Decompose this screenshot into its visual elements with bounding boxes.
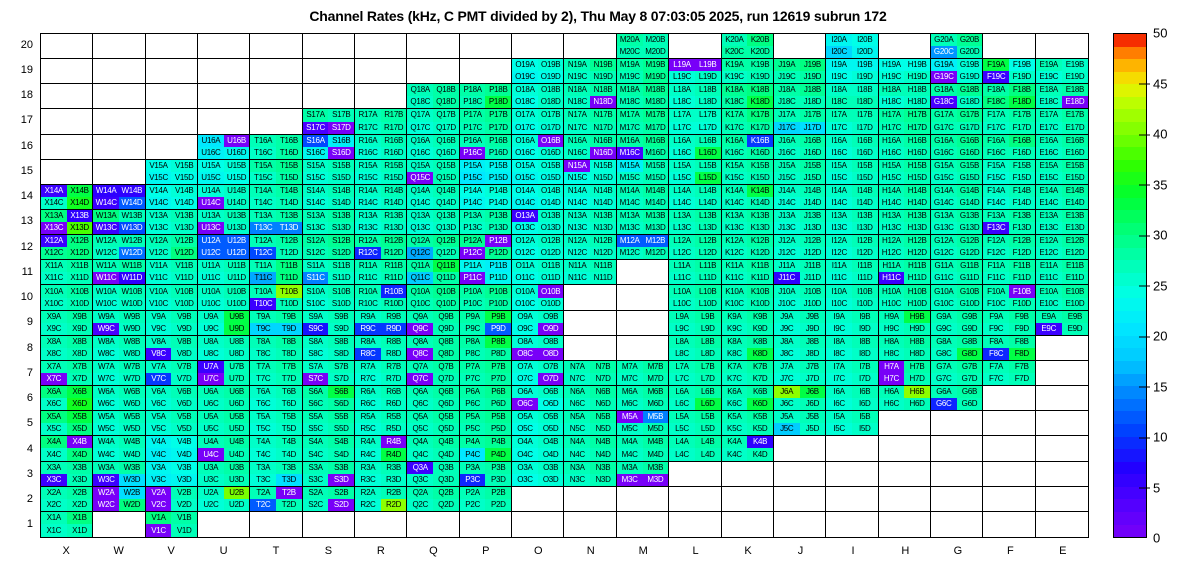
channel-quadrant: P6A <box>460 386 486 398</box>
channel-quadrant: J9C <box>774 323 800 335</box>
channel-quadrant: K7C <box>722 373 748 385</box>
heatmap-cell: K11AK11BK11CK11D <box>722 260 774 285</box>
channel-quadrant <box>171 96 197 108</box>
channel-quadrant: K11A <box>722 260 748 272</box>
channel-quadrant <box>617 336 643 348</box>
y-axis-tick: 10 <box>0 291 33 303</box>
channel-quadrant: F19A <box>983 59 1009 71</box>
channel-quadrant: J13D <box>800 222 826 234</box>
channel-quadrant <box>1062 448 1088 460</box>
channel-quadrant: Q6C <box>407 398 433 410</box>
heatmap-grid: M20AM20BM20CM20DK20AK20BK20CK20DI20AI20B… <box>41 34 1088 537</box>
channel-quadrant: N15D <box>590 172 616 184</box>
channel-quadrant: X12D <box>67 247 93 259</box>
channel-quadrant: G7D <box>957 373 983 385</box>
channel-quadrant: R15A <box>355 160 381 172</box>
channel-quadrant: L12B <box>695 235 721 247</box>
channel-quadrant: P18C <box>460 96 486 108</box>
channel-quadrant: W13D <box>119 222 145 234</box>
channel-quadrant <box>276 46 302 58</box>
channel-quadrant: K4D <box>747 448 773 460</box>
channel-quadrant: X11D <box>67 272 93 284</box>
channel-quadrant: T6D <box>276 398 302 410</box>
heatmap-cell: T5AT5BT5CT5D <box>250 411 302 436</box>
channel-quadrant <box>1062 423 1088 435</box>
channel-quadrant: I19A <box>826 59 852 71</box>
channel-quadrant <box>957 512 983 525</box>
heatmap-cell: S8AS8BS8CS8D <box>303 336 355 361</box>
channel-quadrant: N17C <box>564 122 590 134</box>
channel-quadrant: F13D <box>1009 222 1035 234</box>
channel-quadrant: K16A <box>722 135 748 147</box>
channel-quadrant <box>983 462 1009 474</box>
channel-quadrant: G11A <box>931 260 957 272</box>
channel-quadrant <box>276 34 302 46</box>
channel-quadrant: I12A <box>826 235 852 247</box>
channel-quadrant: M6A <box>617 386 643 398</box>
channel-quadrant <box>119 34 145 46</box>
channel-quadrant: R3C <box>355 474 381 486</box>
heatmap-cell: W14AW14BW14CW14D <box>93 185 145 210</box>
channel-quadrant <box>119 172 145 184</box>
heatmap-cell: E10AE10BE10CE10D <box>1036 285 1088 310</box>
channel-quadrant <box>669 487 695 499</box>
channel-quadrant <box>617 298 643 310</box>
channel-quadrant: V3B <box>171 462 197 474</box>
heatmap-cell: F10AF10BF10CF10D <box>983 285 1035 310</box>
channel-quadrant: U14B <box>224 185 250 197</box>
channel-quadrant <box>1009 398 1035 410</box>
channel-quadrant: W4D <box>119 448 145 460</box>
heatmap-cell: O12AO12BO12CO12D <box>512 235 564 260</box>
channel-quadrant: X4B <box>67 436 93 448</box>
channel-quadrant: Q13B <box>433 210 459 222</box>
heatmap-cell: H16AH16BH16CH16D <box>879 135 931 160</box>
channel-quadrant <box>276 71 302 83</box>
heatmap-cell: L17AL17BL17CL17D <box>669 109 721 134</box>
channel-quadrant: K17B <box>747 109 773 121</box>
heatmap-cell: R6AR6BR6CR6D <box>355 386 407 411</box>
channel-quadrant: Q9A <box>407 311 433 323</box>
heatmap-cell <box>617 311 669 336</box>
channel-quadrant: V1D <box>171 524 197 537</box>
heatmap-cell: F17AF17BF17CF17D <box>983 109 1035 134</box>
channel-quadrant <box>407 46 433 58</box>
heatmap-cell: U9AU9BU9CU9D <box>198 311 250 336</box>
heatmap-cell: H14AH14BH14CH14D <box>879 185 931 210</box>
channel-quadrant: K13A <box>722 210 748 222</box>
channel-quadrant <box>904 436 930 448</box>
channel-quadrant: I8A <box>826 336 852 348</box>
channel-quadrant <box>590 487 616 499</box>
channel-quadrant: W6C <box>93 398 119 410</box>
channel-quadrant: T6A <box>250 386 276 398</box>
heatmap-cell <box>355 84 407 109</box>
channel-quadrant: G10A <box>931 285 957 297</box>
heatmap-cell <box>931 512 983 537</box>
heatmap-cell: N16AN16BN16CN16D <box>564 135 616 160</box>
channel-quadrant: G13A <box>931 210 957 222</box>
channel-quadrant: U13A <box>198 210 224 222</box>
channel-quadrant: V1B <box>171 512 197 525</box>
channel-quadrant: J11C <box>774 272 800 284</box>
heatmap-cell: I12AI12BI12CI12D <box>826 235 878 260</box>
channel-quadrant: P3A <box>460 462 486 474</box>
channel-quadrant <box>538 499 564 511</box>
channel-quadrant: G18A <box>931 84 957 96</box>
channel-quadrant: X12C <box>41 247 67 259</box>
channel-quadrant <box>146 109 172 121</box>
channel-quadrant: H6C <box>879 398 905 410</box>
y-axis-tick: 2 <box>0 493 33 505</box>
colorbar-segment <box>1114 172 1146 185</box>
channel-quadrant: N6D <box>590 398 616 410</box>
channel-quadrant: K14C <box>722 197 748 209</box>
channel-quadrant: E17B <box>1062 109 1088 121</box>
channel-quadrant: R12A <box>355 235 381 247</box>
channel-quadrant: K9D <box>747 323 773 335</box>
channel-quadrant: X7B <box>67 361 93 373</box>
channel-quadrant: H11A <box>879 260 905 272</box>
channel-quadrant <box>381 71 407 83</box>
heatmap-cell: G15AG15BG15CG15D <box>931 160 983 185</box>
channel-quadrant <box>904 423 930 435</box>
channel-quadrant: X5C <box>41 423 67 435</box>
channel-quadrant <box>276 122 302 134</box>
channel-quadrant <box>1009 462 1035 474</box>
channel-quadrant: S6C <box>303 398 329 410</box>
heatmap-cell: V7AV7BV7CV7D <box>146 361 198 386</box>
channel-quadrant <box>590 348 616 360</box>
channel-quadrant: G9B <box>957 311 983 323</box>
channel-quadrant: T13B <box>276 210 302 222</box>
channel-quadrant <box>250 71 276 83</box>
channel-quadrant: T14A <box>250 185 276 197</box>
heatmap-cell: L19AL19BL19CL19D <box>669 59 721 84</box>
channel-quadrant: O6B <box>538 386 564 398</box>
channel-quadrant: T13D <box>276 222 302 234</box>
channel-quadrant: X14C <box>41 197 67 209</box>
channel-quadrant: S4B <box>328 436 354 448</box>
x-axis-tick: Q <box>407 545 459 557</box>
channel-quadrant: J7D <box>800 373 826 385</box>
channel-quadrant: X14B <box>67 185 93 197</box>
heatmap-cell: R7AR7BR7CR7D <box>355 361 407 386</box>
channel-quadrant: Q9C <box>407 323 433 335</box>
y-axis-tick: 5 <box>0 417 33 429</box>
channel-quadrant: S14D <box>328 197 354 209</box>
heatmap-cell <box>146 34 198 59</box>
channel-quadrant <box>852 448 878 460</box>
channel-quadrant <box>643 487 669 499</box>
heatmap-cell: M15AM15BM15CM15D <box>617 160 669 185</box>
heatmap-cell <box>983 411 1035 436</box>
channel-quadrant: G6D <box>957 398 983 410</box>
channel-quadrant: M4D <box>643 448 669 460</box>
channel-quadrant <box>250 524 276 537</box>
channel-quadrant: F17A <box>983 109 1009 121</box>
channel-quadrant: E11D <box>1062 272 1088 284</box>
channel-quadrant: H6A <box>879 386 905 398</box>
heatmap-cell: P12AP12BP12CP12D <box>460 235 512 260</box>
channel-quadrant: N6A <box>564 386 590 398</box>
heatmap-cell <box>564 34 616 59</box>
channel-quadrant <box>460 524 486 537</box>
heatmap-cell: K5AK5BK5CK5D <box>722 411 774 436</box>
channel-quadrant: E16A <box>1036 135 1062 147</box>
channel-quadrant: Q17A <box>407 109 433 121</box>
colorbar-segment <box>1114 147 1146 160</box>
channel-quadrant: I17B <box>852 109 878 121</box>
heatmap-cell: I20AI20BI20CI20D <box>826 34 878 59</box>
heatmap-cell: X8AX8BX8CX8D <box>41 336 93 361</box>
channel-quadrant <box>538 487 564 499</box>
channel-quadrant: W8B <box>119 336 145 348</box>
channel-quadrant <box>695 512 721 525</box>
channel-quadrant: P17C <box>460 122 486 134</box>
channel-quadrant: X6C <box>41 398 67 410</box>
channel-quadrant: U9B <box>224 311 250 323</box>
channel-quadrant: I17C <box>826 122 852 134</box>
channel-quadrant: N12C <box>564 247 590 259</box>
channel-quadrant: X10D <box>67 298 93 310</box>
channel-quadrant: U2C <box>198 499 224 511</box>
heatmap-cell: G20AG20BG20CG20D <box>931 34 983 59</box>
channel-quadrant: X3B <box>67 462 93 474</box>
channel-quadrant <box>774 46 800 58</box>
channel-quadrant: V13D <box>171 222 197 234</box>
heatmap-cell: F13AF13BF13CF13D <box>983 210 1035 235</box>
channel-quadrant: E14A <box>1036 185 1062 197</box>
heatmap-cell: L13AL13BL13CL13D <box>669 210 721 235</box>
heatmap-cell: S5AS5BS5CS5D <box>303 411 355 436</box>
channel-quadrant <box>957 423 983 435</box>
channel-quadrant: M5D <box>643 423 669 435</box>
channel-quadrant: P6C <box>460 398 486 410</box>
channel-quadrant: E17A <box>1036 109 1062 121</box>
channel-quadrant: H12C <box>879 247 905 259</box>
channel-quadrant: E17C <box>1036 122 1062 134</box>
heatmap-cell: O14AO14BO14CO14D <box>512 185 564 210</box>
heatmap-cell <box>774 34 826 59</box>
channel-quadrant: S2D <box>328 499 354 511</box>
colorbar-tick-mark <box>1139 488 1150 489</box>
channel-quadrant: F15B <box>1009 160 1035 172</box>
channel-quadrant <box>93 84 119 96</box>
colorbar-segment <box>1114 84 1146 97</box>
channel-quadrant: I10A <box>826 285 852 297</box>
channel-quadrant: I17D <box>852 122 878 134</box>
heatmap-cell <box>198 84 250 109</box>
channel-quadrant: H8A <box>879 336 905 348</box>
channel-quadrant: N15C <box>564 172 590 184</box>
channel-quadrant <box>1036 34 1062 46</box>
heatmap-cell <box>826 512 878 537</box>
channel-quadrant <box>774 34 800 46</box>
heatmap-cell <box>41 59 93 84</box>
channel-quadrant: V8A <box>146 336 172 348</box>
heatmap-cell: O10AO10BO10CO10D <box>512 285 564 310</box>
channel-quadrant <box>617 512 643 525</box>
channel-quadrant: J5A <box>774 411 800 423</box>
channel-quadrant <box>800 524 826 537</box>
channel-quadrant: J13A <box>774 210 800 222</box>
colorbar-tick-label: 20 <box>1153 329 1167 344</box>
channel-quadrant: F9C <box>983 323 1009 335</box>
heatmap-cell: T2AT2BT2CT2D <box>250 487 302 512</box>
heatmap-cell: S4AS4BS4CS4D <box>303 436 355 461</box>
channel-quadrant: G15D <box>957 172 983 184</box>
channel-quadrant: T8D <box>276 348 302 360</box>
channel-quadrant: O16A <box>512 135 538 147</box>
channel-quadrant: L18A <box>669 84 695 96</box>
channel-quadrant: P16D <box>485 147 511 159</box>
channel-quadrant: E15C <box>1036 172 1062 184</box>
channel-quadrant: L10A <box>669 285 695 297</box>
channel-quadrant: Q6B <box>433 386 459 398</box>
heatmap-cell: W2AW2BW2CW2D <box>93 487 145 512</box>
channel-quadrant: W2C <box>93 499 119 511</box>
channel-quadrant: V7D <box>171 373 197 385</box>
channel-quadrant <box>1036 373 1062 385</box>
channel-quadrant <box>957 436 983 448</box>
channel-quadrant: X6A <box>41 386 67 398</box>
channel-quadrant <box>800 34 826 46</box>
channel-quadrant: P6D <box>485 398 511 410</box>
channel-quadrant: U2B <box>224 487 250 499</box>
channel-quadrant: O9B <box>538 311 564 323</box>
channel-quadrant: Q3A <box>407 462 433 474</box>
heatmap-cell: U13AU13BU13CU13D <box>198 210 250 235</box>
channel-quadrant: G14D <box>957 197 983 209</box>
channel-quadrant: P13B <box>485 210 511 222</box>
channel-quadrant: E11B <box>1062 260 1088 272</box>
channel-quadrant: O14C <box>512 197 538 209</box>
channel-quadrant: J14B <box>800 185 826 197</box>
channel-quadrant: L5D <box>695 423 721 435</box>
channel-quadrant: G16C <box>931 147 957 159</box>
channel-quadrant: I8B <box>852 336 878 348</box>
heatmap-cell: H11AH11BH11CH11D <box>879 260 931 285</box>
channel-quadrant: J14C <box>774 197 800 209</box>
channel-quadrant: V5C <box>146 423 172 435</box>
channel-quadrant: H17B <box>904 109 930 121</box>
channel-quadrant: R10C <box>355 298 381 310</box>
channel-quadrant: N15A <box>564 160 590 172</box>
heatmap-cell <box>460 34 512 59</box>
channel-quadrant: R15B <box>381 160 407 172</box>
heatmap-cell: J17AJ17BJ17CJ17D <box>774 109 826 134</box>
channel-quadrant <box>93 172 119 184</box>
channel-quadrant <box>904 499 930 511</box>
heatmap-cell: L16AL16BL16CL16D <box>669 135 721 160</box>
heatmap-cell: F7AF7BF7CF7D <box>983 361 1035 386</box>
channel-quadrant: X5B <box>67 411 93 423</box>
channel-quadrant: H18B <box>904 84 930 96</box>
channel-quadrant: H12D <box>904 247 930 259</box>
channel-quadrant: I13D <box>852 222 878 234</box>
heatmap-cell: H8AH8BH8CH8D <box>879 336 931 361</box>
channel-quadrant: V11A <box>146 260 172 272</box>
channel-quadrant: O10B <box>538 285 564 297</box>
heatmap-cell <box>250 512 302 537</box>
channel-quadrant: G7A <box>931 361 957 373</box>
channel-quadrant: I12D <box>852 247 878 259</box>
channel-quadrant: O10C <box>512 298 538 310</box>
channel-quadrant: J15C <box>774 172 800 184</box>
channel-quadrant: G8A <box>931 336 957 348</box>
channel-quadrant <box>250 96 276 108</box>
heatmap-cell: X13AX13BX13CX13D <box>41 210 93 235</box>
channel-quadrant: U12B <box>224 235 250 247</box>
heatmap-cell: E15AE15BE15CE15D <box>1036 160 1088 185</box>
channel-quadrant: I20C <box>826 46 852 58</box>
channel-quadrant <box>276 59 302 71</box>
channel-quadrant: W3D <box>119 474 145 486</box>
channel-quadrant: X1B <box>67 512 93 525</box>
x-axis-tick: R <box>355 545 407 557</box>
channel-quadrant: P10C <box>460 298 486 310</box>
heatmap-cell: W12AW12BW12CW12D <box>93 235 145 260</box>
heatmap-cell <box>41 109 93 134</box>
colorbar-tick-mark <box>1139 336 1150 337</box>
channel-quadrant: N16D <box>590 147 616 159</box>
channel-quadrant: S7B <box>328 361 354 373</box>
channel-quadrant: O11B <box>538 260 564 272</box>
channel-quadrant <box>355 512 381 525</box>
channel-quadrant <box>1009 487 1035 499</box>
channel-quadrant: Q13C <box>407 222 433 234</box>
channel-quadrant: F11D <box>1009 272 1035 284</box>
channel-quadrant: Q18B <box>433 84 459 96</box>
channel-quadrant: J17D <box>800 122 826 134</box>
channel-quadrant <box>538 46 564 58</box>
channel-quadrant: S5B <box>328 411 354 423</box>
channel-quadrant <box>669 462 695 474</box>
channel-quadrant: S2A <box>303 487 329 499</box>
channel-quadrant <box>669 34 695 46</box>
channel-quadrant: W14C <box>93 197 119 209</box>
channel-quadrant: L8A <box>669 336 695 348</box>
channel-quadrant: H12B <box>904 235 930 247</box>
heatmap-cell: S11AS11BS11CS11D <box>303 260 355 285</box>
channel-quadrant <box>983 436 1009 448</box>
channel-quadrant: E16B <box>1062 135 1088 147</box>
channel-quadrant: J19A <box>774 59 800 71</box>
channel-quadrant <box>41 46 67 58</box>
channel-quadrant: N7B <box>590 361 616 373</box>
channel-quadrant: P5A <box>460 411 486 423</box>
channel-quadrant: F15C <box>983 172 1009 184</box>
channel-quadrant: N12D <box>590 247 616 259</box>
channel-quadrant: O11C <box>512 272 538 284</box>
channel-quadrant: R17D <box>381 122 407 134</box>
channel-quadrant <box>931 448 957 460</box>
channel-quadrant: M14A <box>617 185 643 197</box>
channel-quadrant: Q5D <box>433 423 459 435</box>
channel-quadrant: L14A <box>669 185 695 197</box>
channel-quadrant: M18B <box>643 84 669 96</box>
channel-quadrant: I9C <box>826 323 852 335</box>
colorbar-segment <box>1114 424 1146 437</box>
channel-quadrant <box>669 474 695 486</box>
channel-quadrant: I11B <box>852 260 878 272</box>
heatmap-cell: I7AI7BI7CI7D <box>826 361 878 386</box>
channel-quadrant: J19D <box>800 71 826 83</box>
channel-quadrant: G15C <box>931 172 957 184</box>
colorbar-segment <box>1114 336 1146 349</box>
channel-quadrant: T5D <box>276 423 302 435</box>
